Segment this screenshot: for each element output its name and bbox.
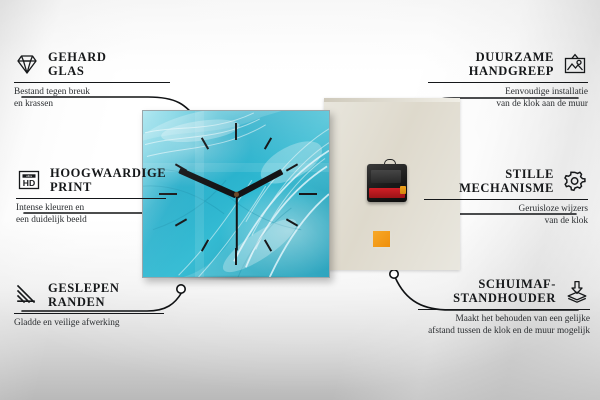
- callout-subtitle-line1: Gladde en veilige afwerking: [14, 318, 210, 329]
- infographic-canvas: GEHARD GLAS Bestand tegen breuk en krass…: [0, 0, 600, 400]
- callout-gehard-glas[interactable]: GEHARD GLAS Bestand tegen breuk en krass…: [14, 50, 210, 110]
- foam-spacer-icon: [564, 279, 590, 303]
- callout-title: GESLEPEN RANDEN: [48, 281, 120, 309]
- callout-subtitle-line1: Intense kleuren en: [16, 203, 212, 214]
- foam-spacer: [373, 231, 390, 247]
- callout-subtitle-line1: Geruisloze wijzers: [392, 204, 588, 215]
- diamond-icon: [14, 52, 40, 76]
- gear-icon: [562, 169, 588, 193]
- clock-center-pin: [234, 192, 239, 197]
- callout-subtitle-line1: Bestand tegen breuk: [14, 87, 210, 98]
- callout-divider: [16, 198, 166, 199]
- callout-schuimafstandhouder[interactable]: SCHUIMAF- STANDHOUDER Maakt het behouden…: [392, 277, 590, 337]
- callout-divider: [14, 313, 164, 314]
- callout-subtitle-line1: Eenvoudige installatie: [392, 87, 588, 98]
- callout-header: GESLEPEN RANDEN: [14, 281, 210, 309]
- svg-text:HD: HD: [23, 178, 35, 188]
- beveled-edges-icon: [14, 283, 40, 307]
- callout-header: STILLE MECHANISME: [392, 167, 588, 195]
- callout-header: GEHARD GLAS: [14, 50, 210, 78]
- second-hand: [236, 195, 238, 251]
- callout-subtitle-line2: van de klok aan de muur: [392, 99, 588, 110]
- callout-title: HOOGWAARDIGE PRINT: [50, 166, 166, 194]
- callout-subtitle-line2: van de klok: [392, 216, 588, 227]
- callout-subtitle-line2: een duidelijk beeld: [16, 215, 212, 226]
- callout-divider: [14, 82, 170, 83]
- tick-3: [299, 193, 317, 195]
- callout-stille-mechanisme[interactable]: STILLE MECHANISME Geruisloze wijzers van…: [392, 167, 588, 227]
- ultra-hd-icon: ultra HD: [16, 168, 42, 192]
- callout-header: SCHUIMAF- STANDHOUDER: [392, 277, 590, 305]
- callout-header: ultra HD HOOGWAARDIGE PRINT: [16, 166, 212, 194]
- callout-title: STILLE MECHANISME: [459, 167, 554, 195]
- callout-title: DUURZAME HANDGREEP: [469, 50, 554, 78]
- callout-title: GEHARD GLAS: [48, 50, 106, 78]
- callout-divider: [428, 82, 588, 83]
- picture-frame-icon: [562, 52, 588, 76]
- callout-geslepen-randen[interactable]: GESLEPEN RANDEN Gladde en veilige afwerk…: [14, 281, 210, 330]
- callout-subtitle-line2: afstand tussen de klok en de muur mogeli…: [392, 326, 590, 337]
- callout-subtitle-line1: Maakt het behouden van een gelijke: [392, 314, 590, 325]
- callout-subtitle-line2: en krassen: [14, 99, 210, 110]
- callout-title: SCHUIMAF- STANDHOUDER: [453, 277, 556, 305]
- tick-12: [235, 123, 237, 140]
- callout-duurzame-handgreep[interactable]: DUURZAME HANDGREEP Eenvoudige installati…: [392, 50, 588, 110]
- callout-header: DUURZAME HANDGREEP: [392, 50, 588, 78]
- callout-divider: [424, 199, 588, 200]
- callout-hoogwaardige-print[interactable]: ultra HD HOOGWAARDIGE PRINT Intense kleu…: [16, 166, 212, 226]
- callout-divider: [418, 309, 590, 310]
